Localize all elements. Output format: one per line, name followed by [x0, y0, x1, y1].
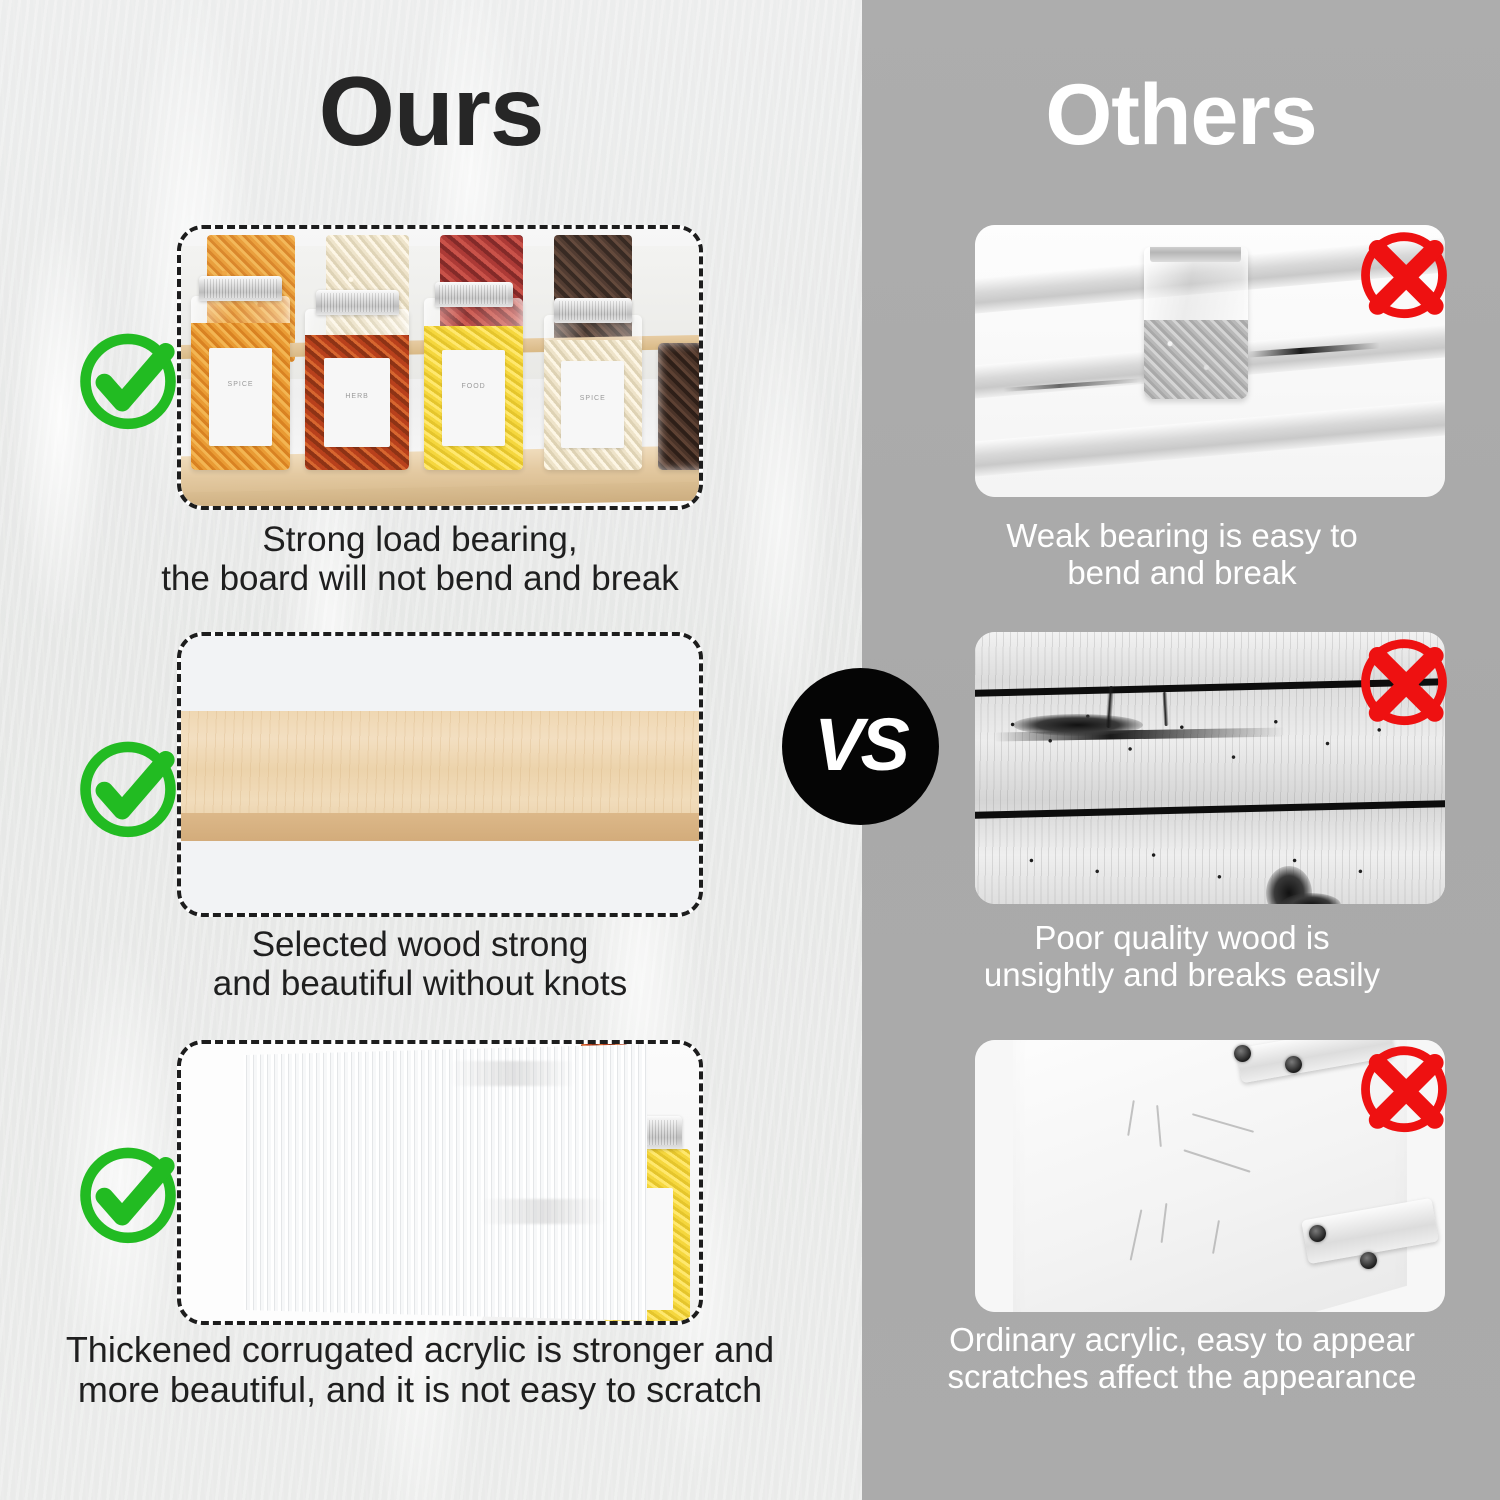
red-cross-icon-1	[1349, 218, 1459, 328]
spice-jars-shelf-photo: SPICE HERB FOOD SPICE	[181, 229, 699, 506]
jar-label: SPICE	[561, 361, 624, 448]
jar-label: SPICE	[209, 348, 272, 446]
ours-caption-1-line1: Strong load bearing,	[20, 520, 820, 559]
green-check-icon-2	[69, 728, 187, 846]
ours-caption-3-line1: Thickened corrugated acrylic is stronger…	[10, 1330, 830, 1370]
ours-image-frame-2	[177, 632, 703, 917]
others-caption-3-line2: scratches affect the appearance	[880, 1359, 1484, 1396]
others-caption-3-line1: Ordinary acrylic, easy to appear	[880, 1322, 1484, 1359]
others-caption-2: Poor quality wood is unsightly and break…	[880, 920, 1484, 994]
red-cross-icon-3	[1349, 1032, 1459, 1142]
ours-caption-3: Thickened corrugated acrylic is stronger…	[10, 1330, 830, 1411]
others-caption-1-line2: bend and break	[880, 555, 1484, 592]
clean-wood-plank-photo	[181, 636, 699, 913]
ours-image-frame-1: SPICE HERB FOOD SPICE	[177, 225, 703, 510]
others-caption-1: Weak bearing is easy to bend and break	[880, 518, 1484, 592]
comparison-infographic: Ours Others SPICE	[0, 0, 1500, 1500]
jar-label: FOOD	[442, 350, 505, 446]
ours-caption-1-line2: the board will not bend and break	[20, 559, 820, 598]
ours-title: Ours	[0, 62, 862, 160]
ours-caption-3-line2: more beautiful, and it is not easy to sc…	[10, 1370, 830, 1410]
jar-label: HERB	[324, 358, 390, 448]
vs-badge-label: VS	[814, 708, 907, 782]
ours-caption-1: Strong load bearing, the board will not …	[20, 520, 820, 598]
others-caption-1-line1: Weak bearing is easy to	[880, 518, 1484, 555]
others-caption-2-line2: unsightly and breaks easily	[880, 957, 1484, 994]
ours-caption-2-line1: Selected wood strong	[20, 925, 820, 964]
others-caption-3: Ordinary acrylic, easy to appear scratch…	[880, 1322, 1484, 1396]
ours-image-frame-3	[177, 1040, 703, 1325]
green-check-icon-3	[69, 1134, 187, 1252]
corrugated-acrylic-photo	[181, 1044, 699, 1321]
others-caption-2-line1: Poor quality wood is	[880, 920, 1484, 957]
others-title: Others	[862, 72, 1500, 158]
ours-caption-2-line2: and beautiful without knots	[20, 964, 820, 1003]
green-check-icon-1	[69, 320, 187, 438]
ours-caption-2: Selected wood strong and beautiful witho…	[20, 925, 820, 1003]
red-cross-icon-2	[1349, 625, 1459, 735]
vs-badge: VS	[782, 668, 939, 825]
